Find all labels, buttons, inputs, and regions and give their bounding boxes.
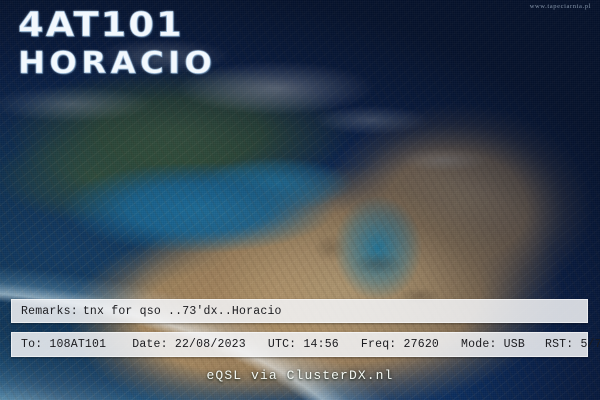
qso-to-field: To: 108AT101 [21,338,106,351]
qso-mode-label: Mode: [461,338,497,351]
operator-name-text: HORACIO [18,49,216,79]
qso-utc-label: UTC: [268,338,296,351]
qso-utc-value: 14:56 [303,338,339,351]
qso-freq-field: Freq: 27620 [361,338,439,351]
remarks-label: Remarks: [21,305,78,318]
source-watermark: www.tapeciarnia.pl [530,3,591,10]
qso-rst-value: 5/7 [581,338,600,351]
qso-mode-value: USB [504,338,525,351]
qso-date-label: Date: [132,338,168,351]
qso-utc-field: UTC: 14:56 [268,338,339,351]
qso-date-value: 22/08/2023 [175,338,246,351]
qso-details-bar: To: 108AT101 Date: 22/08/2023 UTC: 14:56… [11,332,588,357]
callsign-block: 4AT101 HORACIO [18,8,202,79]
qso-fields: To: 108AT101 Date: 22/08/2023 UTC: 14:56… [21,338,600,351]
qso-freq-value: 27620 [404,338,440,351]
qsl-card: www.tapeciarnia.pl 4AT101 HORACIO Remark… [0,0,600,400]
callsign-text: 4AT101 [18,8,216,42]
qso-mode-field: Mode: USB [461,338,525,351]
remarks-value: tnx for qso ..73'dx..Horacio [83,305,282,318]
qso-date-field: Date: 22/08/2023 [132,338,246,351]
qso-rst-label: RST: [545,338,573,351]
qso-freq-label: Freq: [361,338,397,351]
qso-to-value: 108AT101 [49,338,106,351]
qso-to-label: To: [21,338,42,351]
qso-rst-field: RST: 5/7 [545,338,600,351]
eqsl-service-credit: eQSL via ClusterDX.nl [0,368,600,383]
remarks-bar: Remarks: tnx for qso ..73'dx..Horacio [11,299,588,323]
